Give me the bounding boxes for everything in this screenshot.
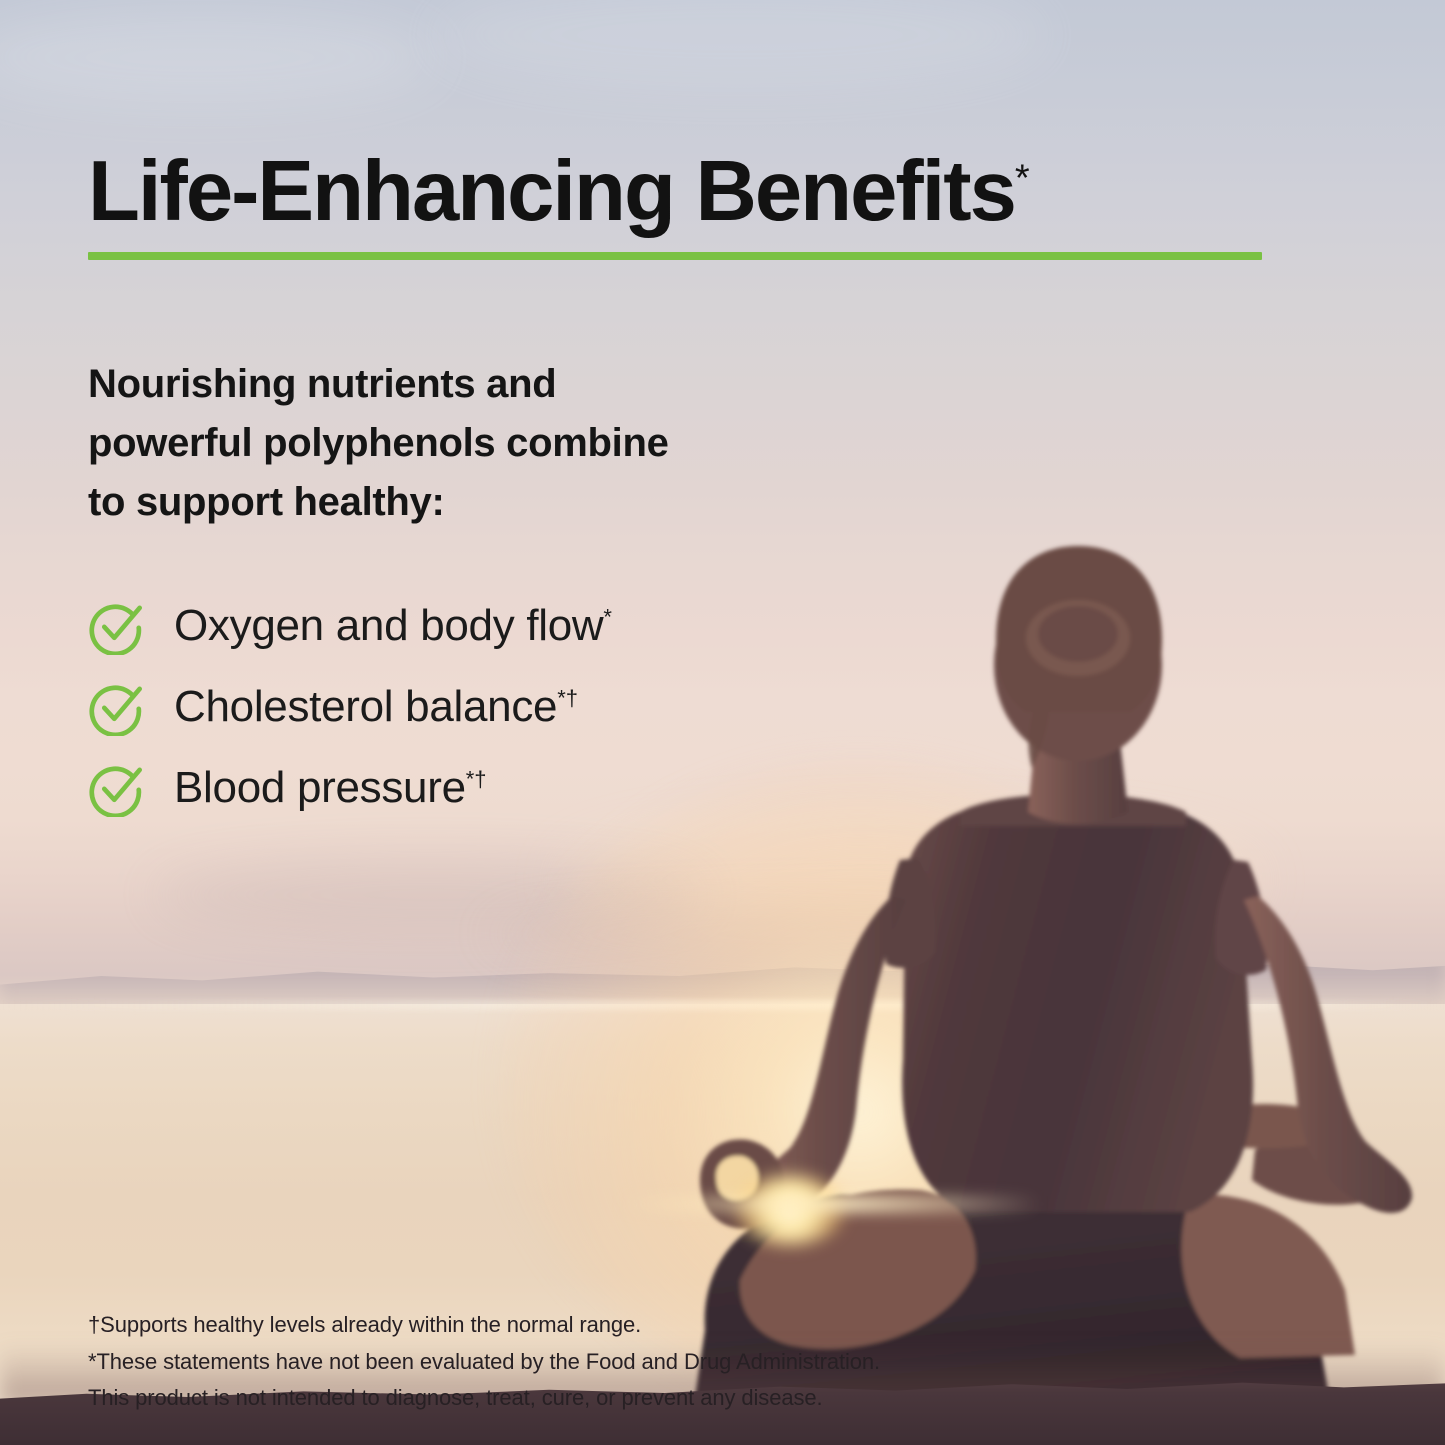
benefit-label-text: Oxygen and body flow: [174, 601, 603, 650]
subheading: Nourishing nutrients and powerful polyph…: [88, 355, 669, 533]
benefit-item-blood-pressure: Blood pressure*†: [88, 759, 612, 817]
benefit-label: Oxygen and body flow*: [174, 601, 612, 651]
footnote-line-2: *These statements have not been evaluate…: [88, 1344, 880, 1381]
accent-divider: [88, 252, 1262, 260]
benefit-label-text: Blood pressure: [174, 763, 466, 812]
page-title-text: Life-Enhancing Benefits: [88, 144, 1015, 239]
benefits-list: Oxygen and body flow* Cholesterol balanc…: [88, 597, 612, 817]
subheading-line-2: powerful polyphenols combine: [88, 414, 669, 473]
benefits-infographic: Life-Enhancing Benefits* Nourishing nutr…: [0, 0, 1445, 1445]
benefit-label-text: Cholesterol balance: [174, 682, 557, 731]
footnotes: †Supports healthy levels already within …: [88, 1307, 880, 1417]
page-title: Life-Enhancing Benefits*: [88, 149, 1030, 234]
subheading-line-3: to support healthy:: [88, 473, 669, 532]
benefit-item-oxygen-and-body-flow: Oxygen and body flow*: [88, 597, 612, 655]
subheading-line-1: Nourishing nutrients and: [88, 355, 669, 414]
footnote-line-1: †Supports healthy levels already within …: [88, 1307, 880, 1344]
check-circle-icon: [88, 759, 146, 817]
benefit-label-superscript: *†: [466, 766, 487, 791]
page-title-superscript: *: [1015, 158, 1030, 200]
benefit-item-cholesterol-balance: Cholesterol balance*†: [88, 678, 612, 736]
benefit-label-superscript: *†: [557, 685, 578, 710]
check-circle-icon: [88, 597, 146, 655]
benefit-label: Cholesterol balance*†: [174, 682, 578, 732]
check-circle-icon: [88, 678, 146, 736]
benefit-label-superscript: *: [603, 604, 612, 629]
benefit-label: Blood pressure*†: [174, 763, 487, 813]
footnote-line-3: This product is not intended to diagnose…: [88, 1380, 880, 1417]
sun-ray: [620, 1196, 1040, 1212]
